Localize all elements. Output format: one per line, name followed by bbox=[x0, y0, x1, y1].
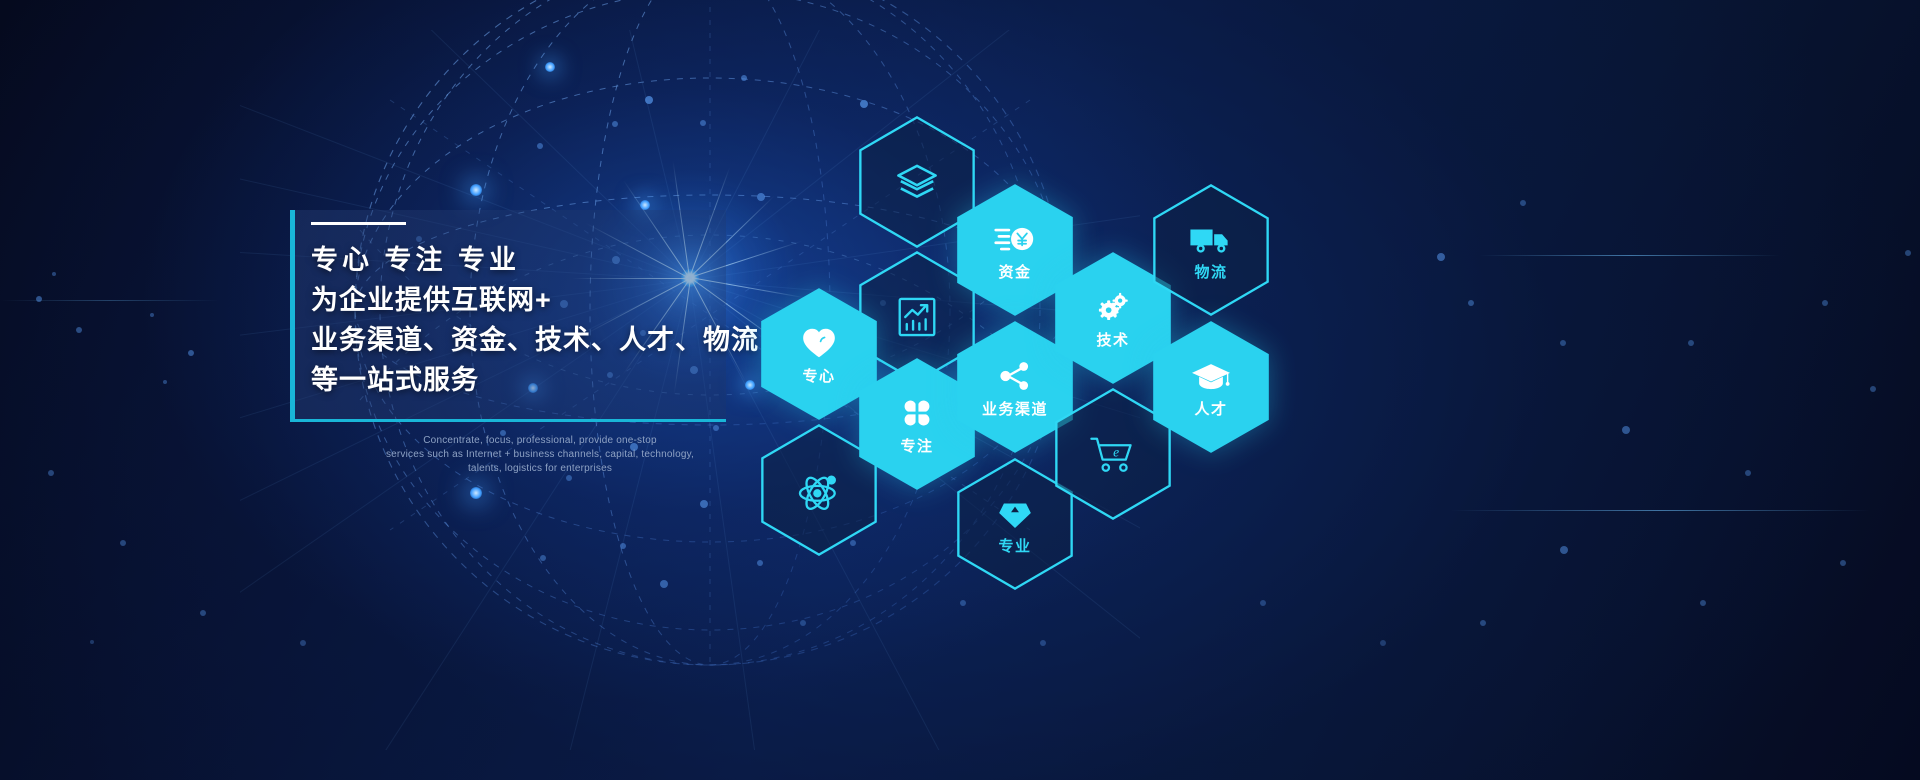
particle-dot bbox=[1380, 640, 1386, 646]
subtitle-line-2: services such as Internet + business cha… bbox=[300, 448, 780, 462]
particle-dot bbox=[470, 487, 482, 499]
particle-dot bbox=[1822, 300, 1828, 306]
particle-dot bbox=[540, 555, 546, 561]
headline-line-1: 专心 专注 专业 bbox=[311, 240, 741, 280]
particle-dot bbox=[612, 121, 618, 127]
particle-dot bbox=[36, 296, 42, 302]
particle-dot bbox=[537, 143, 543, 149]
particle-dot bbox=[1700, 600, 1706, 606]
particle-dot bbox=[1905, 250, 1911, 256]
particle-dot bbox=[200, 610, 206, 616]
particle-dot bbox=[1688, 340, 1694, 346]
particle-dot bbox=[48, 470, 54, 476]
hexagon-wuliu[interactable]: 物流 bbox=[1152, 183, 1270, 317]
particle-dot bbox=[741, 75, 747, 81]
particle-dot bbox=[52, 272, 56, 276]
banner-stage: 专心 专注 专业 为企业提供互联网+ 业务渠道、资金、技术、人才、物流 等一站式… bbox=[0, 0, 1920, 780]
particle-dot bbox=[1468, 300, 1474, 306]
particle-dot bbox=[713, 425, 719, 431]
particle-dot bbox=[470, 184, 482, 196]
headline-line-4: 等一站式服务 bbox=[311, 360, 741, 400]
service-hexagon-cluster: 专心专注资金业务渠道专业技术e物流人才 bbox=[740, 95, 1300, 535]
particle-dot bbox=[1745, 470, 1751, 476]
hexagon-shape bbox=[1152, 183, 1270, 317]
headline-line-3: 业务渠道、资金、技术、人才、物流 bbox=[311, 320, 741, 360]
particle-dot bbox=[76, 327, 82, 333]
particle-dot bbox=[960, 600, 966, 606]
particle-dot bbox=[163, 380, 167, 384]
particle-dot bbox=[90, 640, 94, 644]
particle-dot bbox=[700, 500, 708, 508]
particle-dot bbox=[1560, 340, 1566, 346]
particle-dot bbox=[660, 580, 668, 588]
subtitle-line-1: Concentrate, focus, professional, provid… bbox=[300, 434, 780, 448]
subtitle-line-3: talents, logistics for enterprises bbox=[300, 462, 780, 476]
particle-dot bbox=[645, 96, 653, 104]
particle-dot bbox=[800, 620, 806, 626]
particle-dot bbox=[120, 540, 126, 546]
particle-dot bbox=[640, 200, 650, 210]
particle-dot bbox=[545, 62, 555, 72]
particle-dot bbox=[1480, 620, 1486, 626]
particle-dot bbox=[1870, 386, 1876, 392]
particle-dot bbox=[620, 543, 626, 549]
subtitle-block: Concentrate, focus, professional, provid… bbox=[300, 434, 780, 476]
particle-dot bbox=[1260, 600, 1266, 606]
particle-dot bbox=[1040, 640, 1046, 646]
hexagon-rencai[interactable]: 人才 bbox=[1152, 320, 1270, 454]
particle-dot bbox=[150, 313, 154, 317]
particle-dot bbox=[1520, 200, 1526, 206]
particle-dot bbox=[700, 120, 706, 126]
particle-dot bbox=[188, 350, 194, 356]
particle-dot bbox=[1840, 560, 1846, 566]
headline-line-2: 为企业提供互联网+ bbox=[311, 280, 741, 320]
hexagon-shape bbox=[1152, 320, 1270, 454]
particle-dot bbox=[300, 640, 306, 646]
headline-rule bbox=[311, 222, 406, 225]
particle-dot bbox=[1437, 253, 1445, 261]
particle-dot bbox=[1622, 426, 1630, 434]
headline-text-block: 专心 专注 专业 为企业提供互联网+ 业务渠道、资金、技术、人才、物流 等一站式… bbox=[311, 222, 741, 400]
particle-dot bbox=[757, 560, 763, 566]
particle-dot bbox=[1560, 546, 1568, 554]
